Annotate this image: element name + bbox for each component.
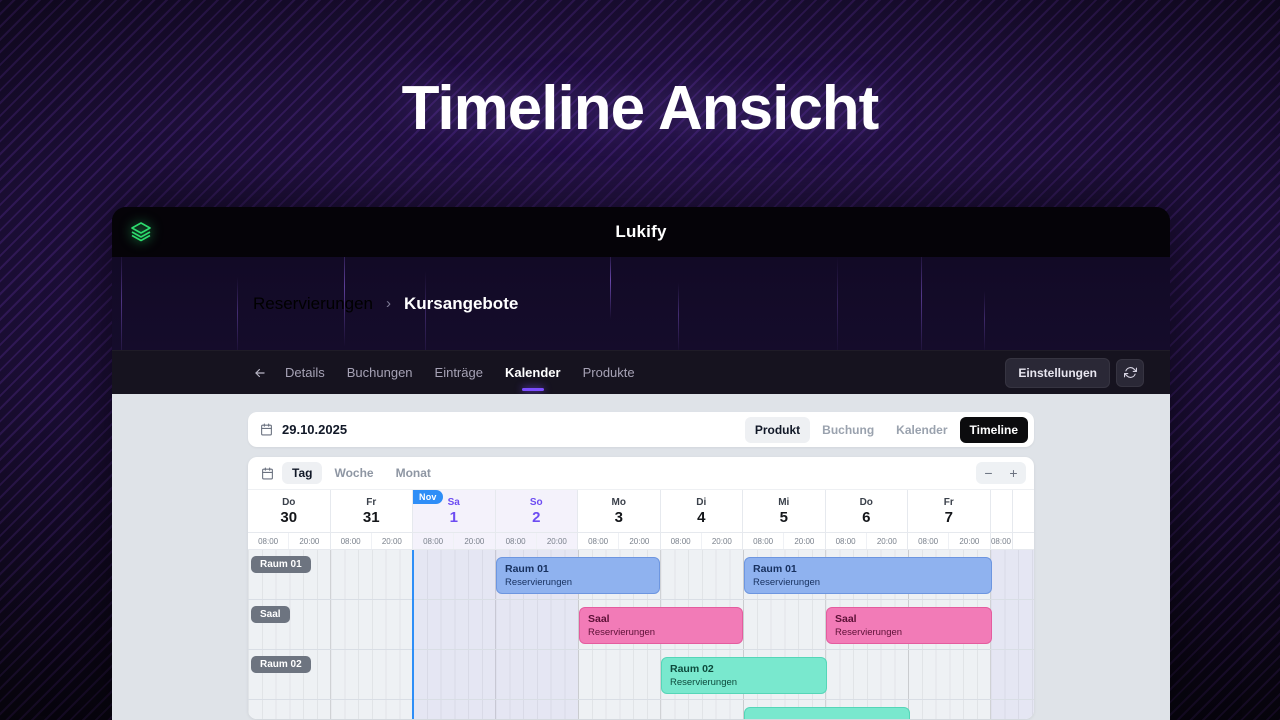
time-slot: 20:00 [454,533,494,549]
time-slot: 20:00 [619,533,659,549]
day-of-week: Di [696,496,706,510]
day-column[interactable]: Mo 3 [578,490,661,532]
day-of-week: Do [282,496,295,510]
time-slot: 20:00 [372,533,412,549]
time-slot: 20:00 [289,533,329,549]
time-slot: 08:00 [743,533,784,549]
day-column[interactable]: Fr 31 [331,490,414,532]
day-column[interactable]: Nov Sa 1 [413,490,496,532]
resource-label-raum-02[interactable]: Raum 02 [251,656,311,673]
view-kalender[interactable]: Kalender [886,417,957,443]
view-produkt[interactable]: Produkt [745,417,810,443]
calendar-icon [261,467,274,480]
current-time-indicator [412,550,414,719]
timeline-card: Tag Woche Monat − + Do 30 [248,457,1034,719]
day-column[interactable]: Fr 7 [908,490,991,532]
resource-label-saal[interactable]: Saal [251,606,290,623]
day-number: 3 [615,509,623,526]
event-title: Raum 02 [670,663,818,677]
event-block[interactable]: Raum 02 Reservierungen [661,657,827,694]
time-slot: 08:00 [248,533,289,549]
page-title: Timeline Ansicht [0,78,1280,140]
event-title: Saal [835,613,983,627]
day-of-week: Fr [944,496,954,510]
event-subtitle: Reservierungen [670,677,818,690]
day-of-week: Do [860,496,873,510]
settings-button[interactable]: Einstellungen [1005,358,1110,388]
view-switcher: Produkt Buchung Kalender Timeline [745,417,1028,443]
date-view-toolbar: 29.10.2025 Produkt Buchung Kalender Time… [248,412,1034,447]
breadcrumb-band: Reservierungen › Kursangebote [112,257,1170,350]
time-column-partial: 08:00 [991,533,1013,549]
day-number: 7 [945,509,953,526]
event-block[interactable]: Saal Reservierungen [826,607,992,644]
day-of-week: Fr [366,496,376,510]
timeline-time-header: 08:00 20:00 08:00 20:00 08:00 20:00 08:0… [248,533,1034,550]
tab-details[interactable]: Details [285,361,325,384]
time-slot: 20:00 [702,533,742,549]
time-column: 08:00 20:00 [331,533,414,549]
day-number: 4 [697,509,705,526]
tab-bar-actions: Einstellungen [1005,358,1144,388]
tab-kalender[interactable]: Kalender [505,361,561,384]
timeline-toolbar: Tag Woche Monat − + [248,457,1034,490]
day-of-week: Mo [612,496,626,510]
app-title: Lukify [112,222,1170,242]
tab-bar: Details Buchungen Einträge Kalender Prod… [112,350,1170,394]
event-block[interactable]: Saal Reservierungen [579,607,743,644]
event-title: Saal [588,613,734,627]
time-column: 08:00 20:00 [743,533,826,549]
time-slot: 20:00 [867,533,907,549]
day-column[interactable]: So 2 [496,490,579,532]
time-column: 08:00 20:00 [908,533,991,549]
day-separator [330,550,331,719]
time-slot: 08:00 [826,533,867,549]
event-title: Raum 01 [753,563,983,577]
time-slot: 08:00 [331,533,372,549]
date-display[interactable]: 29.10.2025 [282,422,347,437]
time-column: 08:00 20:00 [496,533,579,549]
row-separator [248,599,1034,600]
time-slot: 20:00 [537,533,577,549]
time-slot: 08:00 [661,533,702,549]
app-window: Lukify Reservierungen › Kursangebote Det… [112,207,1170,720]
time-slot: 20:00 [784,533,824,549]
time-column: 08:00 20:00 [578,533,661,549]
time-column: 08:00 20:00 [661,533,744,549]
day-number: 6 [862,509,870,526]
time-column: 08:00 20:00 [248,533,331,549]
day-number: 31 [363,509,380,526]
weekend-shading-edge [991,550,1035,719]
chevron-right-icon: › [386,295,391,312]
calendar-icon [260,423,273,436]
day-column[interactable]: Mi 5 [743,490,826,532]
hero-section: Timeline Ansicht [0,78,1280,140]
tab-produkte[interactable]: Produkte [583,361,635,384]
range-switcher: Tag Woche Monat [282,462,441,484]
breadcrumb-parent[interactable]: Reservierungen [253,294,373,314]
timeline-day-header: Do 30 Fr 31 Nov Sa 1 So 2 [248,490,1034,533]
day-column[interactable]: Do 6 [826,490,909,532]
event-block[interactable]: Raum 01 Reservierungen [744,557,992,594]
time-slot: 20:00 [949,533,989,549]
row-separator [248,649,1034,650]
resource-label-raum-01[interactable]: Raum 01 [251,556,311,573]
day-column[interactable]: Do 30 [248,490,331,532]
timeline-body[interactable]: Raum 01 Saal Raum 02 Raum 01 Reservierun… [248,550,1034,719]
day-of-week: Mi [778,496,789,510]
range-tag[interactable]: Tag [282,462,322,484]
event-subtitle: Reservierungen [835,627,983,640]
event-block-partial[interactable] [744,707,910,719]
breadcrumb-current: Kursangebote [404,294,518,314]
layers-icon [128,219,154,245]
tab-buchungen[interactable]: Buchungen [347,361,413,384]
zoom-in-button[interactable]: + [1001,462,1026,484]
day-of-week: So [530,496,543,510]
time-slot: 08:00 [908,533,949,549]
zoom-controls: − + [976,462,1026,484]
event-subtitle: Reservierungen [588,627,734,640]
range-woche[interactable]: Woche [324,462,383,484]
day-column-partial[interactable] [991,490,1013,532]
view-buchung[interactable]: Buchung [812,417,884,443]
month-badge: Nov [413,490,443,504]
tab-list: Details Buchungen Einträge Kalender Prod… [285,361,635,384]
day-column[interactable]: Di 4 [661,490,744,532]
view-timeline[interactable]: Timeline [960,417,1028,443]
range-monat[interactable]: Monat [386,462,441,484]
day-number: 5 [780,509,788,526]
event-subtitle: Reservierungen [505,577,651,590]
row-separator [248,699,1034,700]
time-column: 08:00 20:00 [413,533,496,549]
day-number: 30 [280,509,297,526]
time-slot: 08:00 [578,533,619,549]
event-title: Raum 01 [505,563,651,577]
window-titlebar: Lukify [112,207,1170,257]
refresh-icon[interactable] [1116,359,1144,387]
event-block[interactable]: Raum 01 Reservierungen [496,557,660,594]
day-number: 2 [532,509,540,526]
time-slot: 08:00 [413,533,454,549]
time-column: 08:00 20:00 [826,533,909,549]
event-subtitle: Reservierungen [753,577,983,590]
content-area: 29.10.2025 Produkt Buchung Kalender Time… [112,394,1170,720]
zoom-out-button[interactable]: − [976,462,1001,484]
day-of-week: Sa [448,496,460,510]
time-slot: 08:00 [496,533,537,549]
tab-eintraege[interactable]: Einträge [435,361,483,384]
time-slot: 08:00 [991,533,1012,549]
day-number: 1 [450,509,458,526]
breadcrumb: Reservierungen › Kursangebote [112,294,518,314]
arrow-left-icon[interactable] [253,366,267,380]
